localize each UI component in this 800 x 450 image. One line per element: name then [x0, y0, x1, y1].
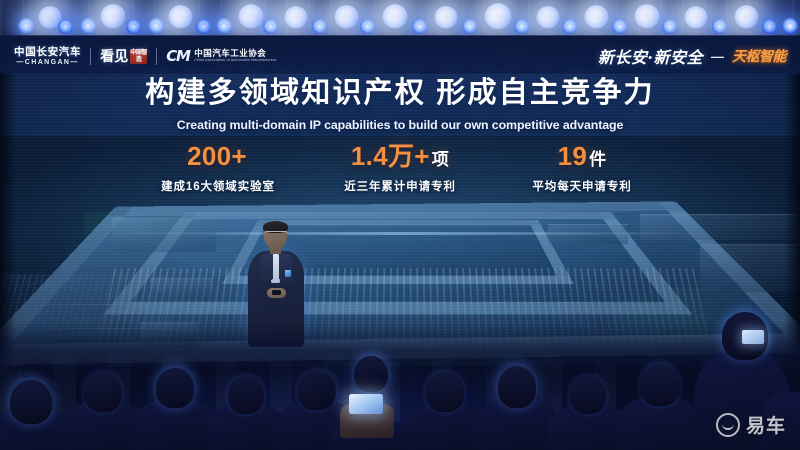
slide-title-block: 构建多领域知识产权 形成自主竞争力 Creating multi-domain …: [0, 76, 800, 132]
stage-lamp: [196, 19, 211, 34]
stage-lamp: [382, 4, 408, 30]
watermark: 易车: [716, 411, 786, 438]
presentation-screenshot: 中国长安汽车 —CHANGAN— 看见 中国智造 CM 中国汽车工业协会 Chi…: [0, 0, 800, 450]
audience-phone-screen: [742, 330, 764, 344]
stat-value: 19件: [493, 143, 671, 170]
stage-lamp: [334, 5, 359, 30]
stage-lamp: [712, 19, 727, 34]
changan-logo: 中国长安汽车 —CHANGAN—: [14, 47, 81, 66]
stage-lamp: [762, 19, 777, 34]
stage-lamp: [462, 19, 477, 34]
stage-lamp: [412, 19, 427, 34]
stat-label: 平均每天申请专利: [493, 178, 671, 194]
stage-lamp: [782, 18, 798, 34]
program-logo: 看见 中国智造: [100, 46, 147, 66]
stage-lamp: [514, 19, 529, 34]
audience-head: [498, 366, 536, 408]
stage-lamp: [536, 6, 560, 30]
program-seal-icon: 中国智造: [130, 49, 147, 64]
stat-label: 建成16大领域实验室: [129, 178, 307, 194]
stat-number: 1.4万+: [351, 141, 430, 171]
stat-number: 19: [558, 141, 588, 171]
stage-lamp: [360, 19, 375, 34]
audience-head: [156, 368, 194, 408]
logo-divider: [90, 48, 91, 65]
logo-divider: [156, 48, 157, 65]
slide-title-cn: 构建多领域知识产权 形成自主竞争力: [0, 76, 800, 111]
stat-number: 200+: [187, 141, 247, 171]
presenter-clicker: [272, 290, 281, 295]
stage-lamp: [684, 6, 708, 30]
stats-row: 200+ 建成16大领域实验室 1.4万+项 近三年累计申请专利 19件 平均每…: [0, 143, 800, 194]
audience-head: [10, 380, 52, 424]
changan-logo-cn: 中国长安汽车: [14, 47, 81, 58]
stat-unit: 项: [432, 150, 449, 169]
stat-value: 1.4万+项: [311, 143, 489, 170]
program-logo-text: 看见: [100, 46, 128, 66]
event-sub-brand: 天枢智能: [732, 46, 786, 66]
event-slogan-cn: 新长安·新安全: [598, 44, 703, 68]
stat-item: 19件 平均每天申请专利: [493, 143, 671, 194]
caam-text-block: 中国汽车工业协会 China Association of Automobile…: [194, 49, 276, 63]
changan-logo-en: —CHANGAN—: [16, 59, 78, 66]
caam-name-cn: 中国汽车工业协会: [194, 49, 276, 58]
stage-lamp: [312, 19, 327, 34]
stage-lamp: [434, 6, 458, 30]
slide-title-en: Creating multi-domain IP capabilities to…: [0, 118, 800, 132]
stage-lamp: [662, 19, 677, 34]
audience-head: [640, 364, 680, 406]
stage-lamp: [80, 18, 96, 34]
stage-lamp: [584, 5, 609, 30]
stage-lamp: [58, 19, 73, 34]
stage-lamp: [100, 4, 126, 30]
audience-head: [84, 372, 122, 412]
stage-lamp: [168, 5, 193, 30]
stat-unit: 件: [589, 150, 606, 169]
stat-label: 近三年累计申请专利: [311, 178, 489, 194]
smile-circle-icon: [716, 413, 740, 437]
stat-item: 200+ 建成16大领域实验室: [129, 143, 307, 194]
stage-lamp: [18, 18, 34, 34]
presenter-lapel-pin: [285, 270, 291, 277]
caam-name-en: China Association of Automobile Manufact…: [194, 59, 276, 63]
logo-group: 中国长安汽车 —CHANGAN— 看见 中国智造 CM 中国汽车工业协会 Chi…: [14, 44, 276, 68]
stage-lamp: [148, 18, 164, 34]
audience-head: [570, 376, 606, 414]
stat-item: 1.4万+项 近三年累计申请专利: [311, 143, 489, 194]
slogan-dash: —: [711, 49, 724, 64]
audience-phone-screen: [349, 394, 383, 414]
watermark-text: 易车: [746, 411, 786, 438]
stage-lamp: [263, 19, 278, 34]
stage-lamp: [562, 19, 577, 34]
stage-lamp: [484, 3, 512, 31]
stage-lamp: [238, 4, 264, 30]
stage-lamp: [216, 18, 232, 34]
audience-head: [426, 372, 464, 412]
stage-lamp: [612, 19, 627, 34]
caam-mark-icon: CM: [166, 49, 189, 64]
stage-lamp: [126, 19, 141, 34]
event-slogan-group: 新长安·新安全 — 天枢智能: [598, 44, 786, 68]
stage-lamp: [284, 6, 308, 30]
presenter-glasses: [265, 231, 287, 237]
audience-head: [228, 376, 264, 414]
audience-head: [354, 356, 388, 392]
caam-logo: CM 中国汽车工业协会 China Association of Automob…: [166, 49, 276, 64]
stage-lamp: [734, 5, 759, 30]
stat-value: 200+: [129, 143, 307, 170]
stage-lamp: [634, 4, 660, 30]
audience-head: [298, 370, 336, 410]
